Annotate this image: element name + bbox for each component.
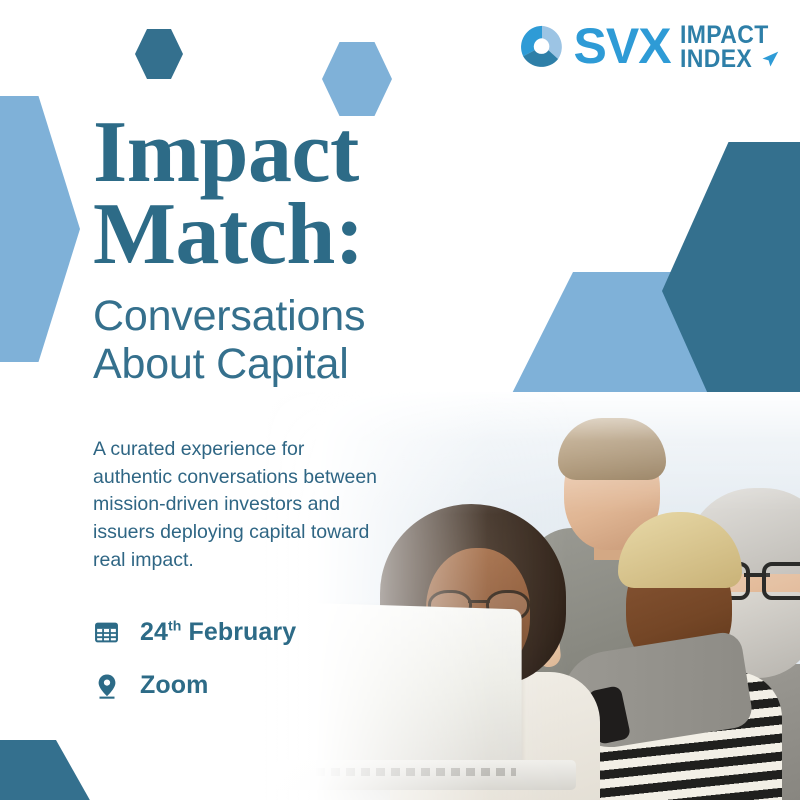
hair [618, 512, 742, 588]
event-date-label: 24th February [140, 618, 296, 647]
event-date-row: 24th February [93, 618, 493, 647]
logo-svx-wordmark: SVX [574, 25, 671, 68]
arrow-cursor-icon [759, 49, 780, 70]
event-month: February [188, 618, 296, 646]
logo-index-row: INDEX [680, 48, 780, 72]
description-line-3: mission-driven investors and [93, 491, 493, 519]
event-details: 24th February Zoom [93, 618, 493, 700]
description-line-2: authentic conversations between [93, 464, 493, 492]
event-location-row: Zoom [93, 671, 493, 700]
description-line-1: A curated experience for [93, 436, 493, 464]
hexagon-small-dark-decor [135, 29, 183, 79]
svx-impact-index-logo: SVX IMPACT INDEX [519, 22, 780, 71]
hexagon-bottom-left-decor [0, 740, 100, 800]
description-line-4: issuers deploying capital toward [93, 519, 493, 547]
event-day: 24 [140, 618, 168, 646]
event-promo-poster: SVX IMPACT INDEX Impact Match: Conversat… [0, 0, 800, 800]
hair [558, 418, 666, 480]
logo-impact-index-words: IMPACT INDEX [680, 22, 780, 71]
subtitle-line-1: Conversations [93, 292, 493, 340]
page-title: Impact Match: [93, 112, 493, 276]
event-location-label: Zoom [140, 671, 208, 700]
svx-circle-mark-icon [519, 24, 565, 70]
headline-line-1: Impact [93, 112, 493, 194]
hexagon-left-edge-decor [0, 96, 80, 362]
laptop-keyboard [316, 768, 516, 776]
headline-line-2: Match: [93, 194, 493, 276]
description-text: A curated experience for authentic conve… [93, 436, 493, 574]
content-block: Impact Match: Conversations About Capita… [93, 112, 493, 724]
event-day-ordinal: th [168, 618, 181, 634]
map-pin-icon [93, 671, 120, 700]
subtitle-line-2: About Capital [93, 340, 493, 388]
calendar-icon [93, 618, 120, 647]
description-line-5: real impact. [93, 547, 493, 575]
page-subtitle: Conversations About Capital [93, 292, 493, 388]
logo-word-index: INDEX [680, 48, 752, 72]
